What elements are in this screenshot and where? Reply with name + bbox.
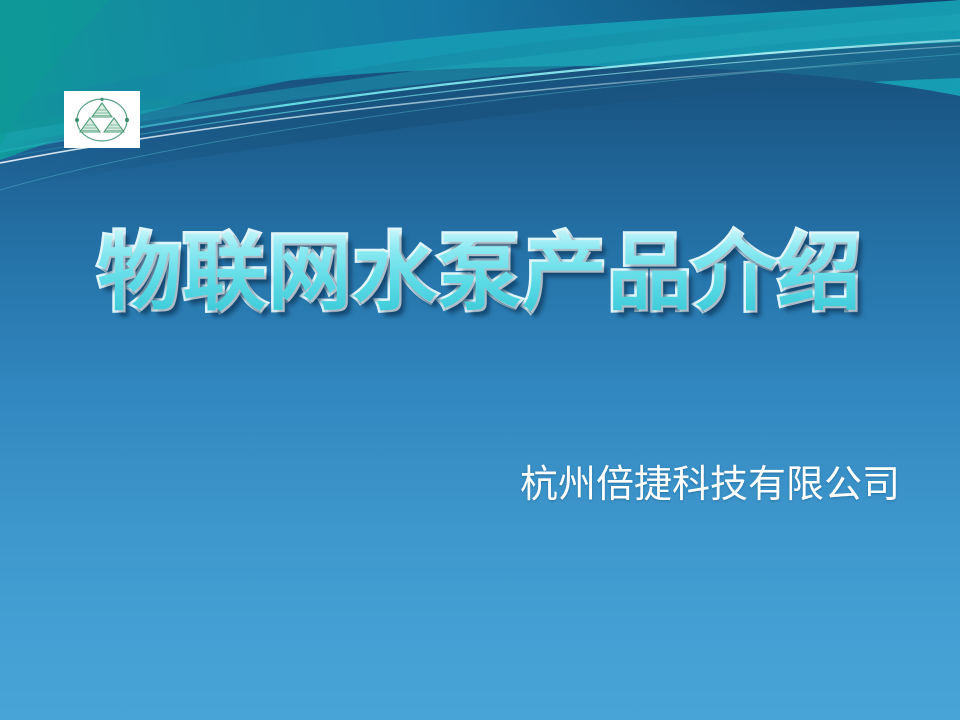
slide-subtitle: 杭州倍捷科技有限公司 [520, 460, 900, 509]
slide-title: 物联网水泵产品介绍 [0, 228, 960, 319]
pyramid-right [104, 118, 124, 132]
logo-pyramids-icon [70, 96, 134, 144]
presentation-slide: 物联网水泵产品介绍 物联网水泵产品介绍 杭州倍捷科技有限公司 [0, 0, 960, 720]
company-logo [64, 91, 140, 148]
pyramid-top [92, 103, 112, 117]
decorative-ribbon-graphic [0, 0, 960, 200]
pyramid-left [80, 118, 100, 132]
